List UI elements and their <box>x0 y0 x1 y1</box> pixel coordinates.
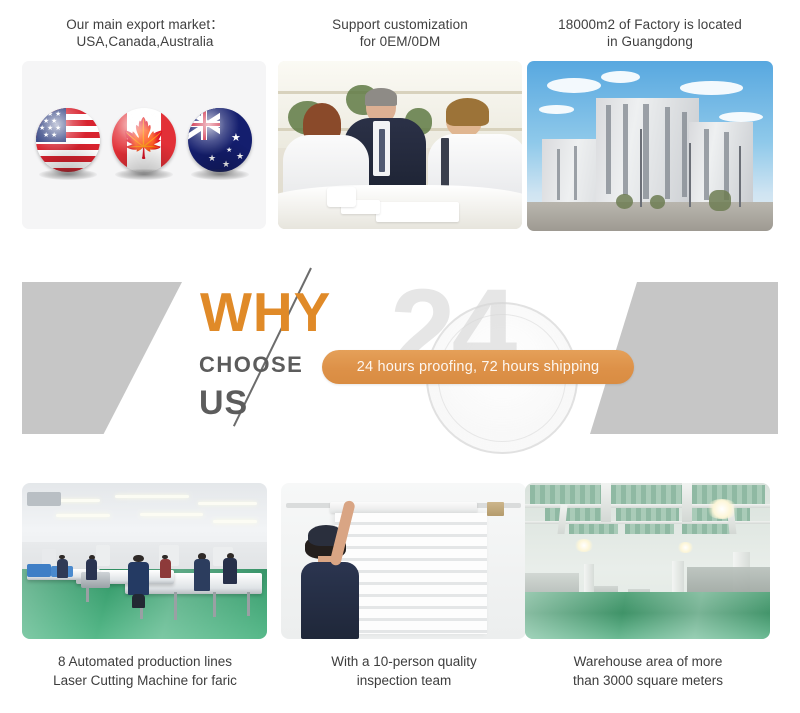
southern-cross-star-1: ★ <box>208 154 216 163</box>
feature-card-production-lines: 8 Automated production lines Laser Cutti… <box>22 466 268 713</box>
usa-flag-shadow <box>39 169 97 180</box>
bottom-feature-row: 8 Automated production lines Laser Cutti… <box>0 466 800 713</box>
worker-mid <box>194 553 211 590</box>
australia-flag-shadow <box>191 169 249 180</box>
canada-flag-sphere: 🍁 <box>109 103 179 187</box>
flag-sphere-group: ★★★ ★★ ★★★ ★★ 🍁 <box>22 61 266 229</box>
worker-right <box>223 553 238 584</box>
southern-cross-star-4: ★ <box>226 146 232 155</box>
union-jack-cross-v-red <box>203 108 206 140</box>
banner-left-shape <box>22 282 182 434</box>
production-floor-scene <box>22 483 267 639</box>
warehouse-lamp-1 <box>706 499 738 519</box>
union-jack-icon <box>188 108 220 140</box>
factory-building-photo <box>527 61 773 231</box>
feature-card-customization: Support customization for 0EM/0DM <box>277 0 523 240</box>
union-jack-cross-v <box>201 108 207 140</box>
usa-flag-sphere: ★★★ ★★ ★★★ ★★ <box>33 103 103 187</box>
commonwealth-star-icon: ★ <box>231 134 241 143</box>
warehouse-scene <box>525 483 770 639</box>
blind-inspection-scene <box>281 483 526 639</box>
feature-card-factory-location: 18000m2 of Factory is located in Guangdo… <box>527 0 773 240</box>
worker-back-1 <box>86 555 98 580</box>
banner-choose-text: CHOOSE <box>199 354 303 376</box>
proofing-shipping-badge: 24 hours proofing, 72 hours shipping <box>322 350 634 384</box>
feature-caption-production-lines: 8 Automated production lines Laser Cutti… <box>22 652 268 690</box>
feature-caption-quality-inspection: With a 10-person quality inspection team <box>281 652 527 690</box>
worker-back-3 <box>159 555 171 578</box>
worker-back-2 <box>56 555 68 578</box>
export-market-flags: ★★★ ★★ ★★★ ★★ 🍁 <box>22 61 266 229</box>
inspection-worker <box>301 525 360 639</box>
maple-leaf-icon: 🍁 <box>120 120 167 158</box>
meeting-scene <box>278 61 522 229</box>
quality-inspection-photo <box>281 483 526 639</box>
australia-flag-icon: ★ ★ ★ ★ ★ <box>188 108 252 172</box>
feature-caption-warehouse: Warehouse area of more than 3000 square … <box>525 652 771 690</box>
worker-foreground <box>127 555 149 608</box>
feature-caption-customization: Support customization for 0EM/0DM <box>277 0 523 50</box>
proofing-shipping-label: 24 hours proofing, 72 hours shipping <box>357 359 600 375</box>
top-feature-row: Our main export market： USA,Canada,Austr… <box>0 0 800 240</box>
factory-exterior-scene <box>527 61 773 231</box>
feature-card-quality-inspection: With a 10-person quality inspection team <box>281 466 527 713</box>
union-jack-cross-h <box>188 121 220 127</box>
australia-flag-sphere: ★ ★ ★ ★ ★ <box>185 103 255 187</box>
business-meeting-photo <box>278 61 522 229</box>
union-jack-cross-h-red <box>188 123 220 126</box>
feature-caption-factory-location: 18000m2 of Factory is located in Guangdo… <box>527 0 773 50</box>
usa-flag-icon: ★★★ ★★ ★★★ ★★ <box>36 108 100 172</box>
feature-card-export-market: Our main export market： USA,Canada,Austr… <box>22 0 268 240</box>
banner-why-text: WHY <box>200 285 331 340</box>
warehouse-photo <box>525 483 770 639</box>
canada-flag-shadow <box>115 169 173 180</box>
usa-canton: ★★★ ★★ ★★★ ★★ <box>36 108 66 142</box>
canada-left-bar <box>112 108 127 172</box>
feature-card-warehouse: Warehouse area of more than 3000 square … <box>525 466 771 713</box>
canada-right-bar <box>161 108 176 172</box>
warehouse-lamp-2 <box>574 539 594 551</box>
southern-cross-star-2: ★ <box>222 160 230 169</box>
feature-caption-export-market: Our main export market： USA,Canada,Austr… <box>22 0 268 50</box>
southern-cross-star-3: ★ <box>236 152 244 161</box>
production-floor-photo <box>22 483 267 639</box>
banner-us-text: US <box>199 386 248 420</box>
promo-page: Our main export market： USA,Canada,Austr… <box>0 0 800 713</box>
canada-flag-icon: 🍁 <box>112 108 176 172</box>
